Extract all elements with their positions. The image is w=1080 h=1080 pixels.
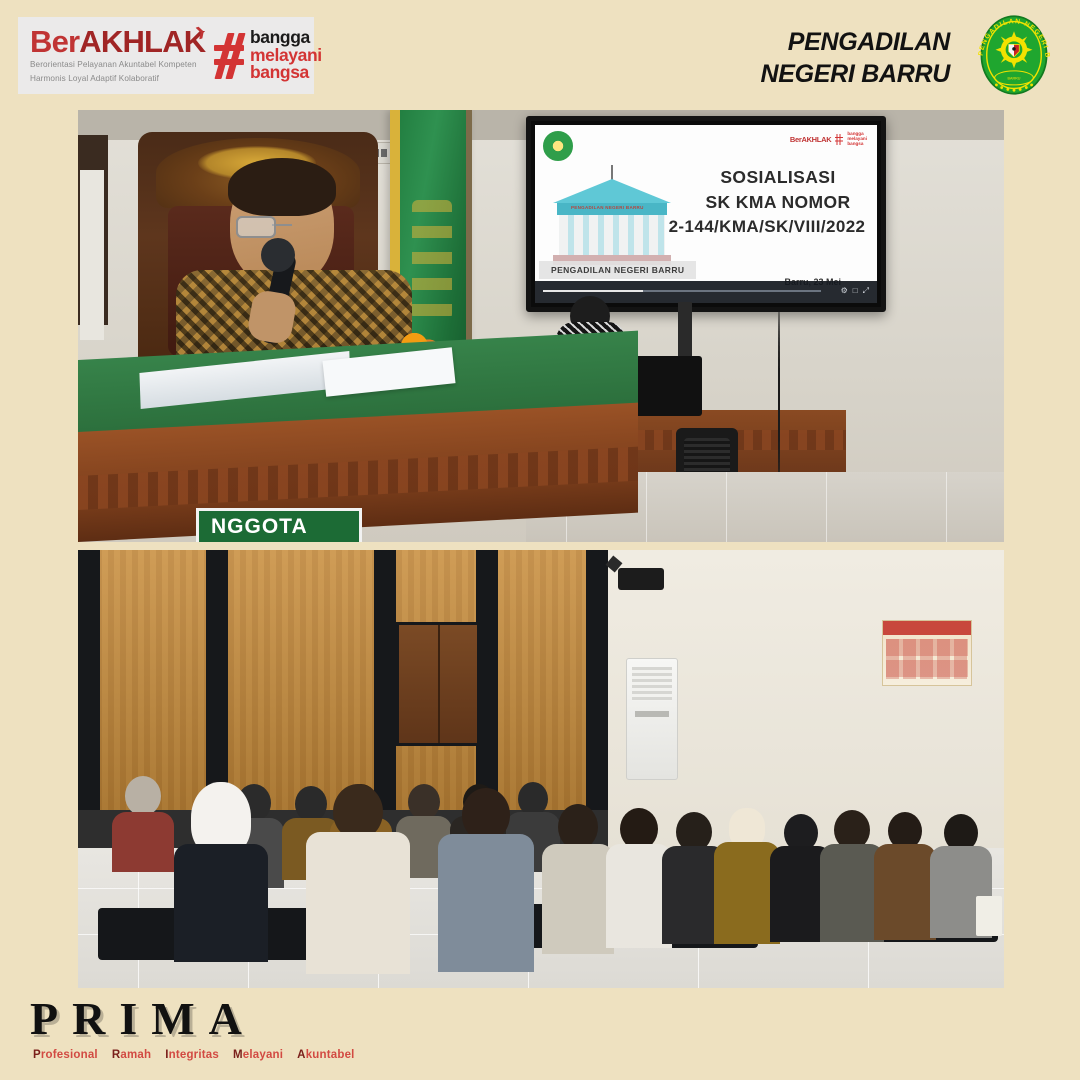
fullscreen-icon[interactable]: □ — [853, 286, 858, 296]
slide-building-label: PENGADILAN NEGERI BARRU — [571, 205, 644, 210]
slide-title-line1: SOSIALISASI — [683, 165, 873, 190]
footer-bar: PRIMA Profesional Ramah Integritas Melay… — [0, 988, 1080, 1080]
slide-bangga-block: bangga melayani bangsa — [847, 132, 867, 146]
attendee-hijab-front — [174, 782, 268, 962]
nameplate-text: NGGOTA — [211, 515, 308, 539]
court-name-title: PENGADILAN NEGERI BARRU — [761, 26, 950, 90]
wall-pillar — [374, 550, 396, 810]
slide-caption-bar: PENGADILAN NEGERI BARRU — [539, 261, 696, 279]
air-conditioner-unit — [626, 658, 678, 780]
flag-emblem — [412, 200, 452, 320]
playback-progress-bar[interactable] — [543, 290, 821, 292]
wall-pillar — [78, 550, 100, 810]
prima-value-profesional: Profesional — [33, 1049, 98, 1061]
slide-court-logo-icon — [543, 131, 573, 161]
berakhlak-logo-box: BerAKHLAK › Berorientasi Pelayanan Akunt… — [18, 17, 314, 94]
berakhlak-wordmark: BerAKHLAK › — [30, 26, 200, 57]
prima-logo: PRIMA Profesional Ramah Integritas Melay… — [30, 992, 355, 1061]
wall-pillar — [586, 550, 608, 810]
berakhlak-prefix: Ber — [30, 24, 79, 59]
berakhlak-main: AKHLAK — [79, 24, 205, 59]
photo-bottom-audience — [78, 550, 1004, 988]
svg-text:BARRU: BARRU — [1008, 77, 1021, 81]
berakhlak-logo: BerAKHLAK › Berorientasi Pelayanan Akunt… — [30, 26, 200, 85]
slide-title-line3: 2-144/KMA/SK/VIII/2022 — [661, 215, 873, 239]
prima-value-integritas: Integritas — [165, 1049, 219, 1061]
tv-screen: BerAKHLAK bangga melayani bangsa PENGADI… — [535, 125, 877, 303]
door-frame-left — [78, 135, 108, 325]
attendee-paper — [976, 896, 1002, 936]
court-title-line1: PENGADILAN — [761, 26, 950, 58]
bangga-line1: bangga — [250, 29, 322, 47]
hashtag-icon — [214, 33, 244, 79]
attendee — [874, 812, 936, 940]
prima-value-ramah: Ramah — [112, 1049, 151, 1061]
court-seal-icon: PENGADILAN NEGERI BARRU — [970, 11, 1058, 99]
header-bar: BerAKHLAK › Berorientasi Pelayanan Akunt… — [0, 0, 1080, 110]
bench-nameplate: NGGOTA — [196, 508, 362, 542]
slide-brand-strip: BerAKHLAK bangga melayani bangsa — [790, 132, 867, 146]
wall-pillar — [206, 550, 228, 810]
attendee-jeans — [452, 878, 532, 972]
bangga-melayani-bangsa-logo: bangga melayani bangsa — [214, 29, 322, 83]
bangga-line3: bangsa — [250, 64, 322, 82]
microphone-head — [261, 238, 295, 272]
slide-hashtag-icon — [835, 134, 843, 145]
attendee-jeans — [316, 878, 408, 974]
prima-value-akuntabel: Akuntabel — [297, 1049, 354, 1061]
slide-berakhlak-label: BerAKHLAK — [790, 135, 831, 144]
berakhlak-tagline-line1: Berorientasi Pelayanan Akuntabel Kompete… — [30, 60, 200, 71]
berakhlak-tagline-line2: Harmonis Loyal Adaptif Kolaboratif — [30, 74, 200, 85]
expand-icon[interactable]: ⤢ — [863, 286, 869, 296]
cable — [778, 310, 780, 490]
photo-top-speaker: BerAKHLAK bangga melayani bangsa PENGADI… — [78, 110, 1004, 542]
television-display: BerAKHLAK bangga melayani bangsa PENGADI… — [526, 116, 886, 312]
bangga-text-block: bangga melayani bangsa — [250, 29, 322, 83]
prima-wordmark: PRIMA — [30, 992, 355, 1045]
settings-icon[interactable]: ⚙ — [841, 286, 848, 296]
attendee — [112, 776, 174, 872]
wood-panel-shading — [78, 550, 608, 810]
slide-title-line2: SK KMA NOMOR — [683, 190, 873, 215]
player-icon-group[interactable]: ⚙ □ ⤢ — [841, 286, 869, 296]
prima-value-melayani: Melayani — [233, 1049, 283, 1061]
interior-door — [396, 622, 480, 746]
speaker-hair — [228, 158, 336, 216]
slide-courthouse-illustration: PENGADILAN NEGERI BARRU — [549, 161, 675, 257]
safety-notice-poster — [882, 620, 972, 686]
attendee — [542, 804, 614, 954]
eyeglasses-icon — [236, 216, 328, 234]
ceiling-projector — [618, 568, 664, 590]
prima-values-list: Profesional Ramah Integritas Melayani Ak… — [33, 1049, 355, 1061]
slide-title-block: SOSIALISASI SK KMA NOMOR 2-144/KMA/SK/VI… — [683, 165, 873, 239]
court-title-line2: NEGERI BARRU — [761, 58, 950, 90]
